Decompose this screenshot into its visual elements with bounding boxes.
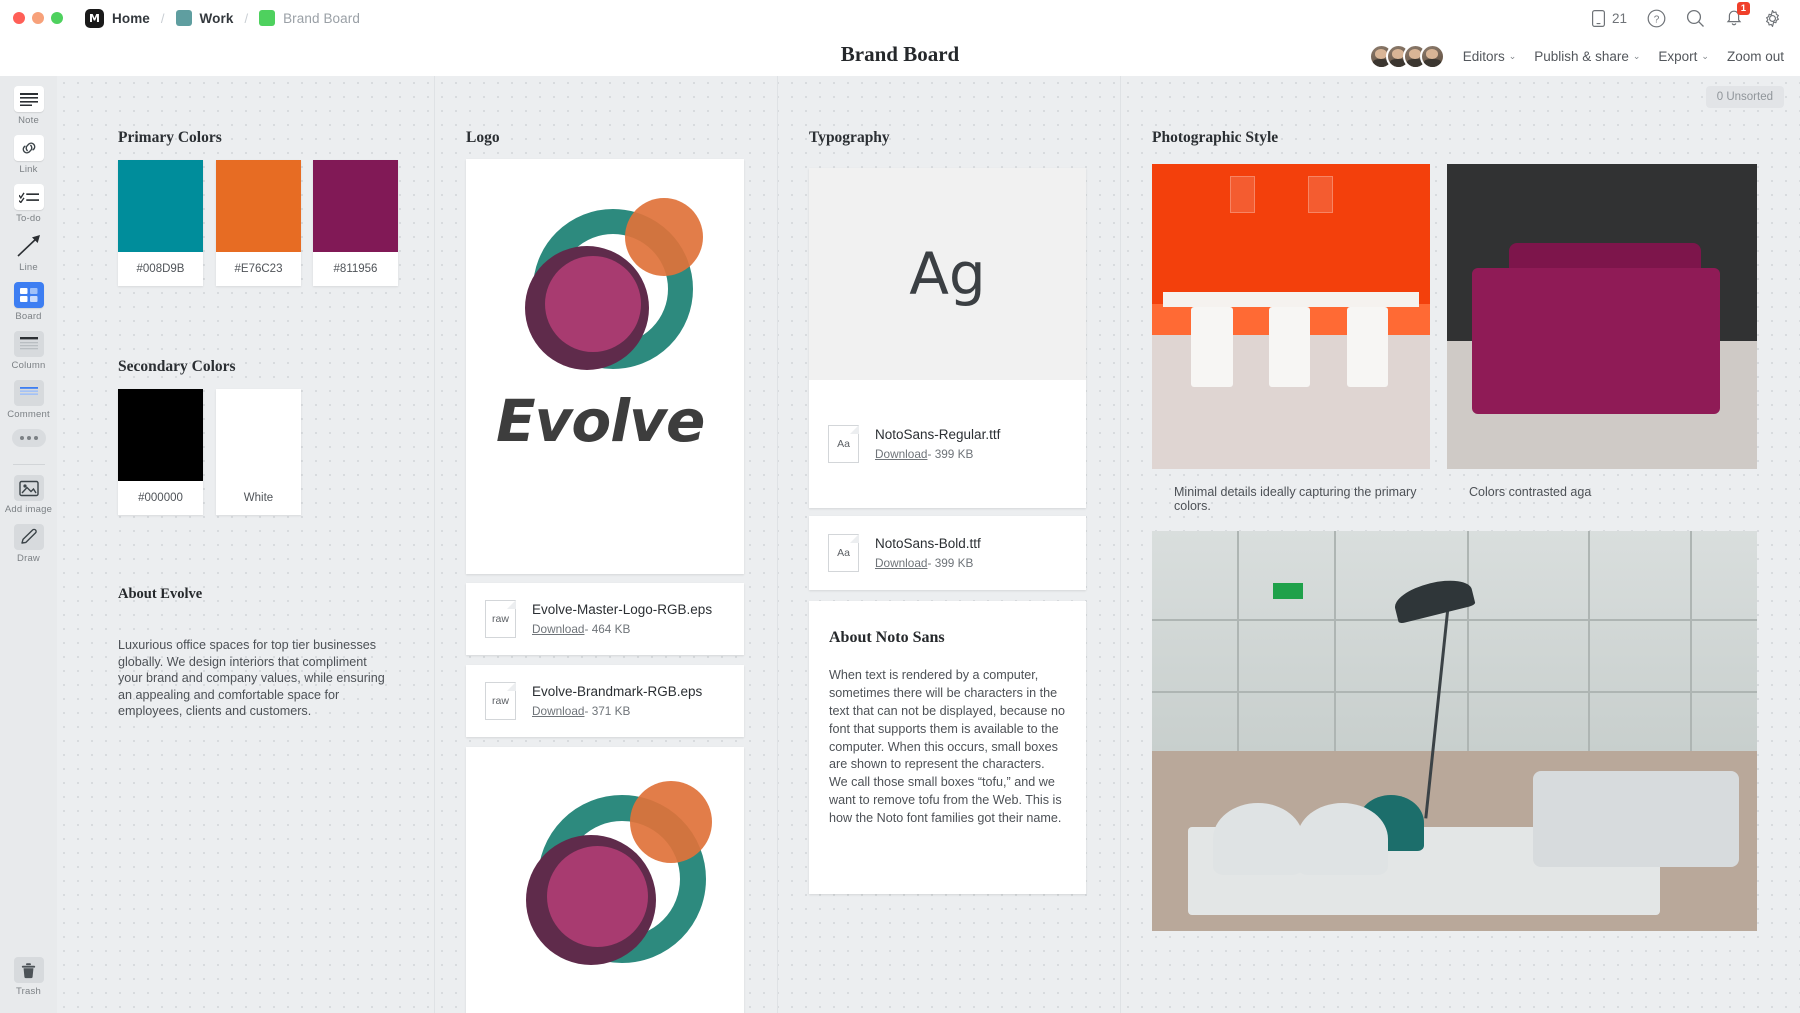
sidebar-item-line[interactable]: Line [0, 233, 57, 273]
color-swatch-1[interactable]: #008D9B [118, 160, 203, 286]
color-hex-label: #000000 [118, 481, 203, 515]
unsorted-badge[interactable]: 0 Unsorted [1706, 86, 1784, 108]
breadcrumb-label-work: Work [200, 11, 234, 26]
sidebar-label-comment: Comment [7, 409, 50, 420]
todo-icon [14, 184, 44, 210]
breadcrumb-label-home: Home [112, 11, 150, 26]
photo-detail [1152, 691, 1757, 693]
trash-icon [14, 957, 44, 983]
note-icon [14, 86, 44, 112]
photo-detail [1308, 176, 1333, 213]
about-noto-sans-card[interactable]: About Noto Sans When text is rendered by… [809, 601, 1086, 894]
font-file-icon: Aa [828, 534, 859, 572]
font-preview-box: Ag [809, 168, 1086, 380]
heading-logo: Logo [466, 129, 500, 147]
file-name: Evolve-Brandmark-RGB.eps [532, 684, 702, 699]
font-preview-card[interactable]: Ag Aa NotoSans-Regular.ttf Download- 399… [809, 168, 1086, 508]
sidebar-label-trash: Trash [16, 986, 41, 997]
color-swatch-5[interactable]: White [216, 389, 301, 515]
file-card-master-logo[interactable]: raw Evolve-Master-Logo-RGB.eps Download-… [466, 583, 744, 655]
sidebar-item-column[interactable]: Column [0, 331, 57, 371]
device-count[interactable]: 21 [1592, 10, 1627, 27]
file-name: Evolve-Master-Logo-RGB.eps [532, 602, 712, 617]
teal-square-icon [176, 10, 192, 26]
logo-card[interactable]: Evolve [466, 159, 744, 574]
photo-detail [1690, 531, 1692, 751]
file-meta: Download- 371 KB [532, 704, 702, 718]
board-icon [14, 282, 44, 308]
photo-detail [1334, 531, 1336, 751]
editor-avatars[interactable] [1369, 44, 1445, 69]
magenta-circle-shape [547, 846, 648, 947]
file-icon-text: Aa [837, 438, 850, 450]
column-divider [434, 76, 435, 1013]
evolve-brandmark [500, 763, 715, 978]
editors-button[interactable]: Editors ⌄ [1463, 49, 1517, 64]
file-card-brandmark[interactable]: raw Evolve-Brandmark-RGB.eps Download- 3… [466, 665, 744, 737]
sidebar-item-comment[interactable]: Comment [0, 380, 57, 420]
file-card-noto-bold[interactable]: Aa NotoSans-Bold.ttf Download- 399 KB [809, 516, 1086, 590]
green-square-icon [259, 10, 275, 26]
file-size: 399 KB [935, 556, 974, 570]
meta-sep: - [584, 622, 588, 636]
file-info: NotoSans-Bold.ttf Download- 399 KB [875, 536, 981, 570]
file-meta: Download- 399 KB [875, 556, 981, 570]
photo-region [1152, 531, 1757, 751]
avatar[interactable] [1420, 44, 1445, 69]
more-dots-icon [12, 429, 46, 447]
photo-caption-1: Minimal details ideally capturing the pr… [1174, 485, 1424, 513]
svg-text:?: ? [1654, 14, 1660, 25]
breadcrumb-label-brand-board: Brand Board [283, 11, 360, 26]
sidebar-divider [13, 464, 45, 465]
sidebar-item-board[interactable]: Board [0, 282, 57, 322]
download-link[interactable]: Download [532, 704, 584, 718]
phone-icon [1592, 10, 1605, 27]
photo-lounge-interior[interactable] [1152, 531, 1757, 931]
sidebar-label-link: Link [19, 164, 37, 175]
color-chip [313, 160, 398, 252]
publish-share-label: Publish & share [1534, 49, 1629, 64]
about-evolve-body: Luxurious office spaces for top tier bus… [118, 637, 386, 720]
sidebar-label-draw: Draw [17, 553, 40, 564]
file-icon-text: raw [492, 613, 509, 625]
file-meta: Download- 399 KB [875, 447, 1000, 461]
file-info: Evolve-Master-Logo-RGB.eps Download- 464… [532, 602, 712, 636]
meta-sep: - [927, 556, 931, 570]
device-count-label: 21 [1612, 11, 1627, 26]
download-link[interactable]: Download [532, 622, 584, 636]
comment-icon [14, 380, 44, 406]
magenta-circle-shape [545, 256, 641, 352]
color-chip [216, 160, 301, 252]
file-name: NotoSans-Bold.ttf [875, 536, 981, 551]
file-info: Evolve-Brandmark-RGB.eps Download- 371 K… [532, 684, 702, 718]
chevron-down-icon: ⌄ [1633, 51, 1641, 62]
file-icon-text: Aa [837, 547, 850, 559]
meta-sep: - [584, 704, 588, 718]
photo-detail [1152, 619, 1757, 621]
about-noto-sans-body: When text is rendered by a computer, som… [829, 667, 1066, 828]
draw-pencil-icon [14, 524, 44, 550]
color-chip [118, 389, 203, 481]
zoom-out-button[interactable]: Zoom out [1727, 49, 1784, 64]
sidebar-label-line: Line [19, 262, 38, 273]
export-label: Export [1658, 49, 1697, 64]
photo-detail [1297, 803, 1388, 875]
breadcrumb-item-work[interactable]: Work [176, 10, 234, 26]
editors-label: Editors [1463, 49, 1505, 64]
sidebar-label-board: Board [15, 311, 41, 322]
search-icon[interactable] [1686, 9, 1705, 28]
heading-photographic-style: Photographic Style [1152, 129, 1278, 147]
color-hex-label: #E76C23 [216, 252, 301, 286]
photo-detail [1588, 531, 1590, 751]
raw-file-icon: raw [485, 682, 516, 720]
board-canvas[interactable]: 0 Unsorted Primary Colors #008D9B #E76C2… [57, 76, 1800, 1013]
breadcrumb-separator: / [159, 11, 167, 26]
sidebar-label-note: Note [18, 115, 39, 126]
color-chip [216, 389, 301, 481]
heading-about-noto-sans: About Noto Sans [829, 629, 1086, 647]
breadcrumb-item-home[interactable]: M Home [85, 9, 150, 28]
window-controls[interactable] [13, 12, 63, 24]
color-hex-label: White [216, 481, 301, 515]
color-swatch-3[interactable]: #811956 [313, 160, 398, 286]
photo-detail [1467, 531, 1469, 751]
download-link[interactable]: Download [875, 447, 927, 461]
chevron-down-icon: ⌄ [1509, 51, 1517, 62]
photo-detail [1273, 583, 1303, 599]
column-divider [1120, 76, 1121, 1013]
color-swatch-4[interactable]: #000000 [118, 389, 203, 515]
photo-detail [1213, 803, 1304, 875]
sidebar-item-todo[interactable]: To-do [0, 184, 57, 224]
photo-detail [1533, 771, 1739, 867]
tool-sidebar: Note Link To-do Line Board Column [0, 76, 57, 1013]
board-actions: Editors ⌄ Publish & share ⌄ Export ⌄ Zoo… [1369, 44, 1784, 69]
minimize-window-icon[interactable] [32, 12, 44, 24]
download-link[interactable]: Download [875, 556, 927, 570]
breadcrumb-separator: / [242, 11, 250, 26]
heading-typography: Typography [809, 129, 890, 147]
evolve-wordmark: Evolve [496, 387, 704, 455]
heading-about-evolve: About Evolve [118, 586, 202, 603]
photo-detail [1237, 531, 1239, 751]
bell-icon[interactable]: 1 [1725, 9, 1743, 28]
gear-icon[interactable] [1763, 9, 1782, 28]
heading-secondary-colors: Secondary Colors [118, 358, 236, 376]
orange-circle-shape [630, 781, 712, 863]
color-hex-label: #811956 [313, 252, 398, 286]
sidebar-item-more[interactable] [0, 429, 57, 447]
color-chip [118, 160, 203, 252]
file-size: 399 KB [935, 447, 974, 461]
file-name: NotoSans-Regular.ttf [875, 427, 1000, 442]
add-image-icon [14, 475, 44, 501]
export-button[interactable]: Export ⌄ [1658, 49, 1709, 64]
evolve-logo-mark [501, 184, 711, 389]
file-size: 464 KB [592, 622, 631, 636]
sidebar-item-add-image[interactable]: Add image [0, 475, 57, 515]
sidebar-item-link[interactable]: Link [0, 135, 57, 175]
top-bar-actions: 21 ? 1 [1592, 9, 1782, 28]
sidebar-label-column: Column [12, 360, 46, 371]
sidebar-label-todo: To-do [16, 213, 41, 224]
font-file-icon: Aa [828, 425, 859, 463]
file-icon-text: raw [492, 695, 509, 707]
photo-region [1152, 164, 1430, 304]
photo-detail [1163, 292, 1419, 307]
color-hex-label: #008D9B [118, 252, 203, 286]
file-info: NotoSans-Regular.ttf Download- 399 KB [875, 427, 1000, 461]
link-icon [14, 135, 44, 161]
raw-file-icon: raw [485, 600, 516, 638]
column-icon [14, 331, 44, 357]
photo-detail [1269, 307, 1311, 386]
file-size: 371 KB [592, 704, 631, 718]
breadcrumb-item-brand-board[interactable]: Brand Board [259, 10, 360, 26]
sidebar-item-note[interactable]: Note [0, 86, 57, 126]
photo-caption-2: Colors contrasted aga [1469, 485, 1749, 499]
photo-detail [1472, 268, 1720, 414]
sidebar-item-trash[interactable]: Trash [14, 957, 44, 997]
brandmark-card[interactable] [466, 747, 744, 1013]
photo-detail [1230, 176, 1255, 213]
column-divider [777, 76, 778, 1013]
heading-primary-colors: Primary Colors [118, 129, 222, 147]
sidebar-item-draw[interactable]: Draw [0, 524, 57, 564]
file-card-noto-regular[interactable]: Aa NotoSans-Regular.ttf Download- 399 KB [809, 380, 1086, 508]
close-window-icon[interactable] [13, 12, 25, 24]
photo-orange-office[interactable] [1152, 164, 1430, 469]
sidebar-label-add-image: Add image [5, 504, 52, 515]
publish-share-button[interactable]: Publish & share ⌄ [1534, 49, 1640, 64]
help-icon[interactable]: ? [1647, 9, 1666, 28]
font-preview-glyphs: Ag [909, 240, 986, 308]
breadcrumb: M Home / Work / Brand Board [85, 9, 360, 28]
color-swatch-2[interactable]: #E76C23 [216, 160, 301, 286]
milanote-logo-icon: M [85, 9, 104, 28]
zoom-out-label: Zoom out [1727, 49, 1784, 64]
board-header: Brand Board Editors ⌄ Publish & share ⌄ … [0, 36, 1800, 76]
file-meta: Download- 464 KB [532, 622, 712, 636]
photo-magenta-chair[interactable] [1447, 164, 1757, 469]
meta-sep: - [927, 447, 931, 461]
notification-badge: 1 [1737, 2, 1750, 15]
photo-detail [1347, 307, 1389, 386]
top-bar: M Home / Work / Brand Board 21 ? 1 [0, 0, 1800, 36]
chevron-down-icon: ⌄ [1701, 51, 1709, 62]
photo-detail [1191, 307, 1233, 386]
line-arrow-icon [14, 233, 44, 259]
orange-circle-shape [625, 198, 703, 276]
maximize-window-icon[interactable] [51, 12, 63, 24]
